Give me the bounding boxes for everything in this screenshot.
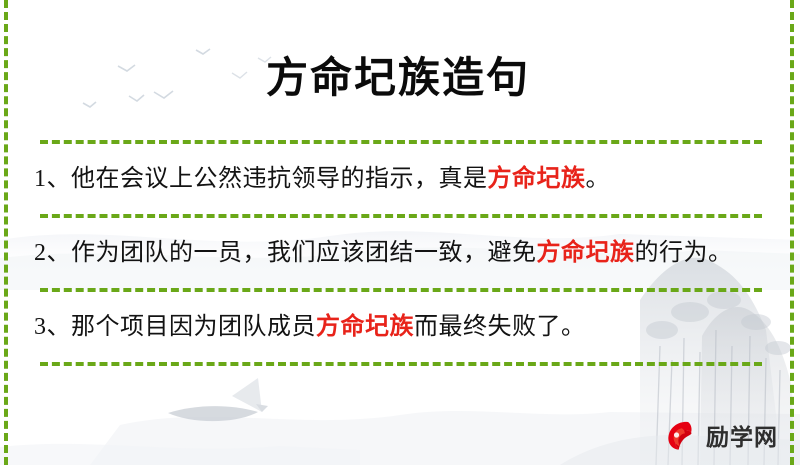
sentence-item-2: 2、作为团队的一员，我们应该团结一致，避免方命圮族的行为。 [18, 218, 778, 288]
content-column: 方命圮族造句 1、他在会议上公然违抗领导的指示，真是方命圮族。 2、作为团队的一… [0, 28, 800, 465]
sentence-2-text-2: 的行为。 [635, 240, 733, 266]
sentence-index-1: 1、 [34, 166, 71, 192]
red-swirl-bird-icon [663, 417, 699, 453]
divider-bottom [40, 362, 762, 366]
sentence-3-text-2: 而最终失败了。 [414, 314, 586, 340]
page-title: 方命圮族造句 [18, 28, 778, 112]
page-root: 方命圮族造句 1、他在会议上公然违抗领导的指示，真是方命圮族。 2、作为团队的一… [0, 0, 800, 465]
sentence-1-keyword: 方命圮族 [488, 166, 586, 192]
left-dashed-rail [4, 0, 8, 465]
sentence-3-keyword: 方命圮族 [316, 314, 414, 340]
site-logo[interactable]: 励学网 [663, 417, 778, 453]
right-dashed-rail [790, 0, 794, 465]
sentence-item-1: 1、他在会议上公然违抗领导的指示，真是方命圮族。 [18, 144, 778, 214]
sentence-2-keyword: 方命圮族 [537, 240, 635, 266]
sentence-item-3: 3、那个项目因为团队成员方命圮族而最终失败了。 [18, 292, 778, 362]
sentence-index-2: 2、 [34, 240, 71, 266]
sentence-1-text-0: 他在会议上公然违抗领导的指示，真是 [71, 166, 488, 192]
sentence-2-text-0: 作为团队的一员，我们应该团结一致，避免 [71, 240, 537, 266]
sentence-3-text-0: 那个项目因为团队成员 [71, 314, 316, 340]
sentence-1-text-2: 。 [586, 166, 611, 192]
site-logo-label: 励学网 [706, 418, 778, 452]
sentence-index-3: 3、 [34, 314, 71, 340]
